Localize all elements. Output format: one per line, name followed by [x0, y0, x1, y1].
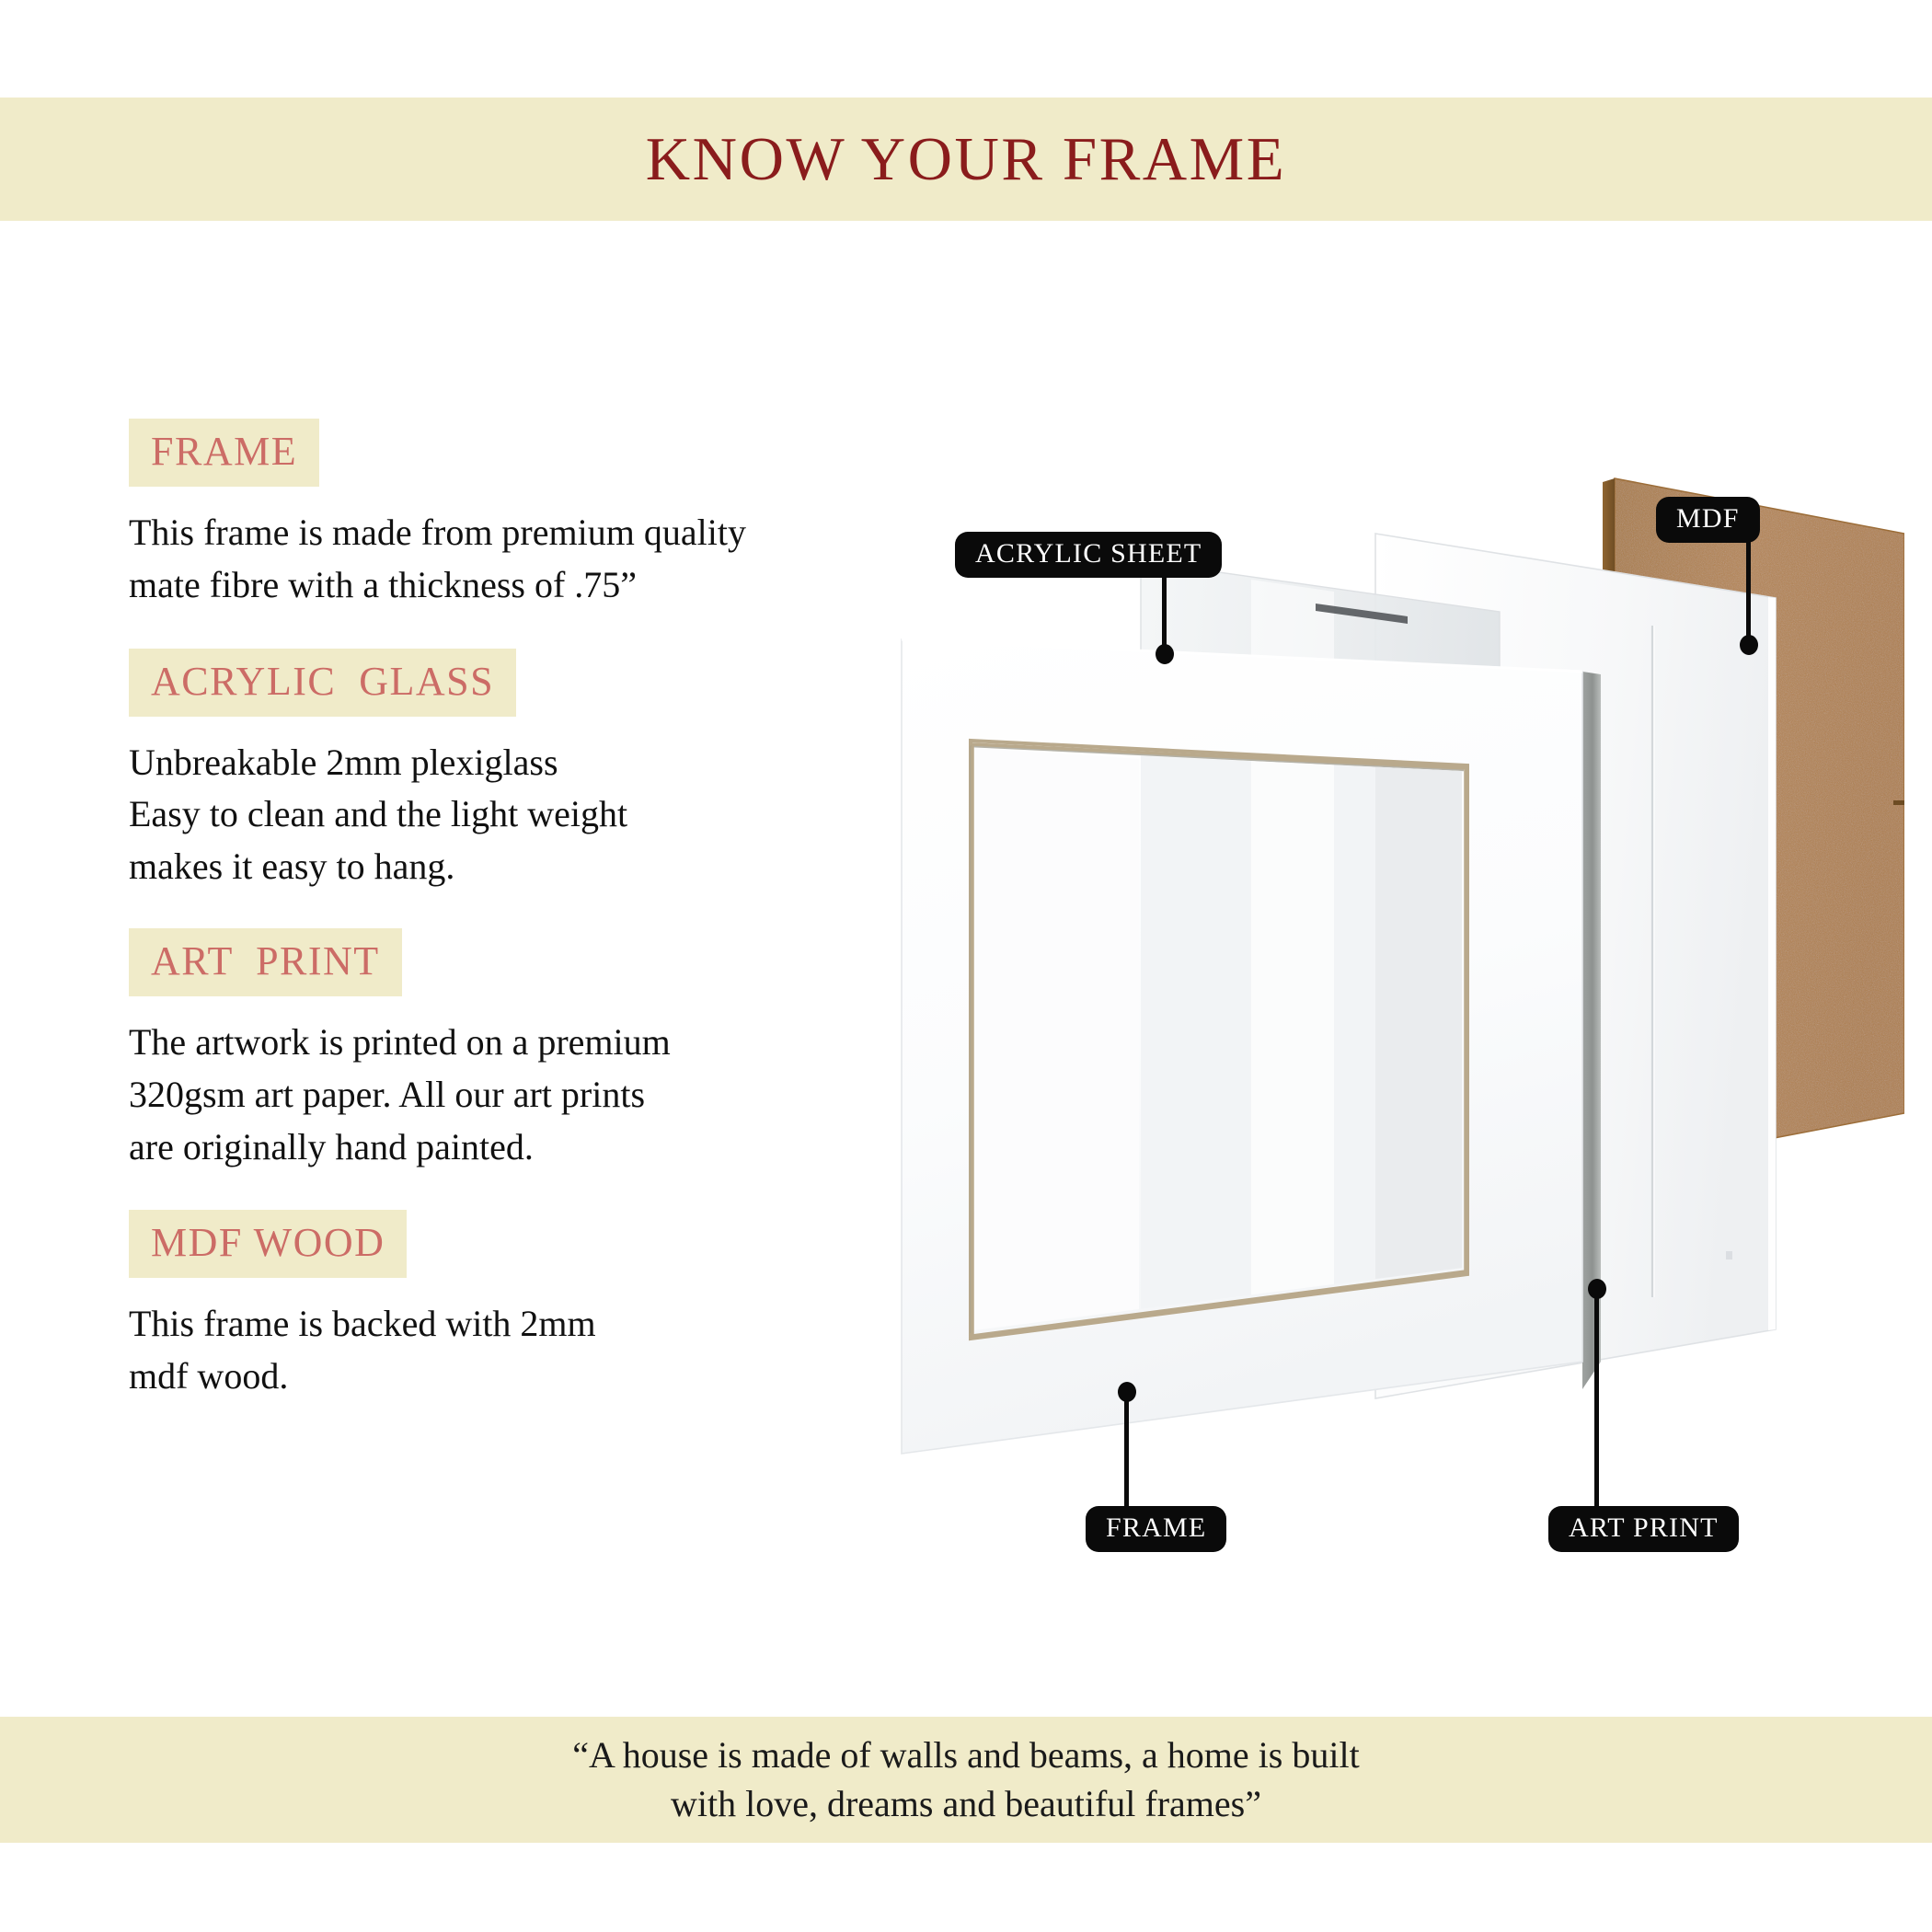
leader-dot-acrylic-sheet	[1156, 644, 1174, 664]
header-banner: KNOW YOUR FRAME	[0, 98, 1932, 221]
callout-acrylic-sheet[interactable]: ACRYLIC SHEET	[955, 532, 1222, 578]
page-title: KNOW YOUR FRAME	[646, 129, 1286, 190]
leader-dot-mdf	[1740, 635, 1758, 655]
leader-dot-frame	[1118, 1382, 1136, 1402]
leader-line-frame	[1124, 1391, 1129, 1511]
section-heading-mdf-wood: MDF WOOD	[129, 1210, 407, 1278]
leader-line-mdf	[1746, 541, 1751, 642]
info-section-frame: FRAME This frame is made from premium qu…	[129, 419, 892, 612]
leader-line-acrylic-sheet	[1162, 576, 1167, 653]
section-body-mdf-wood: This frame is backed with 2mm mdf wood.	[129, 1298, 892, 1403]
section-heading-acrylic-glass: ACRYLIC GLASS	[129, 649, 516, 717]
callout-art-print[interactable]: ART PRINT	[1548, 1506, 1739, 1552]
section-body-art-print: The artwork is printed on a premium 320g…	[129, 1017, 892, 1173]
callout-frame[interactable]: FRAME	[1086, 1506, 1226, 1552]
section-heading-art-print: ART PRINT	[129, 928, 402, 996]
footer-banner: “A house is made of walls and beams, a h…	[0, 1717, 1932, 1843]
info-section-mdf-wood: MDF WOOD This frame is backed with 2mm m…	[129, 1210, 892, 1403]
footer-quote: “A house is made of walls and beams, a h…	[572, 1731, 1359, 1829]
leader-dot-art-print	[1588, 1279, 1606, 1299]
info-section-acrylic-glass: ACRYLIC GLASS Unbreakable 2mm plexiglass…	[129, 649, 892, 893]
section-body-acrylic-glass: Unbreakable 2mm plexiglass Easy to clean…	[129, 737, 892, 893]
callout-mdf[interactable]: MDF	[1656, 497, 1760, 543]
info-section-art-print: ART PRINT The artwork is printed on a pr…	[129, 928, 892, 1173]
leader-line-art-print	[1594, 1288, 1599, 1511]
section-body-frame: This frame is made from premium quality …	[129, 507, 892, 612]
section-heading-frame: FRAME	[129, 419, 319, 487]
info-column: FRAME This frame is made from premium qu…	[129, 419, 892, 1403]
